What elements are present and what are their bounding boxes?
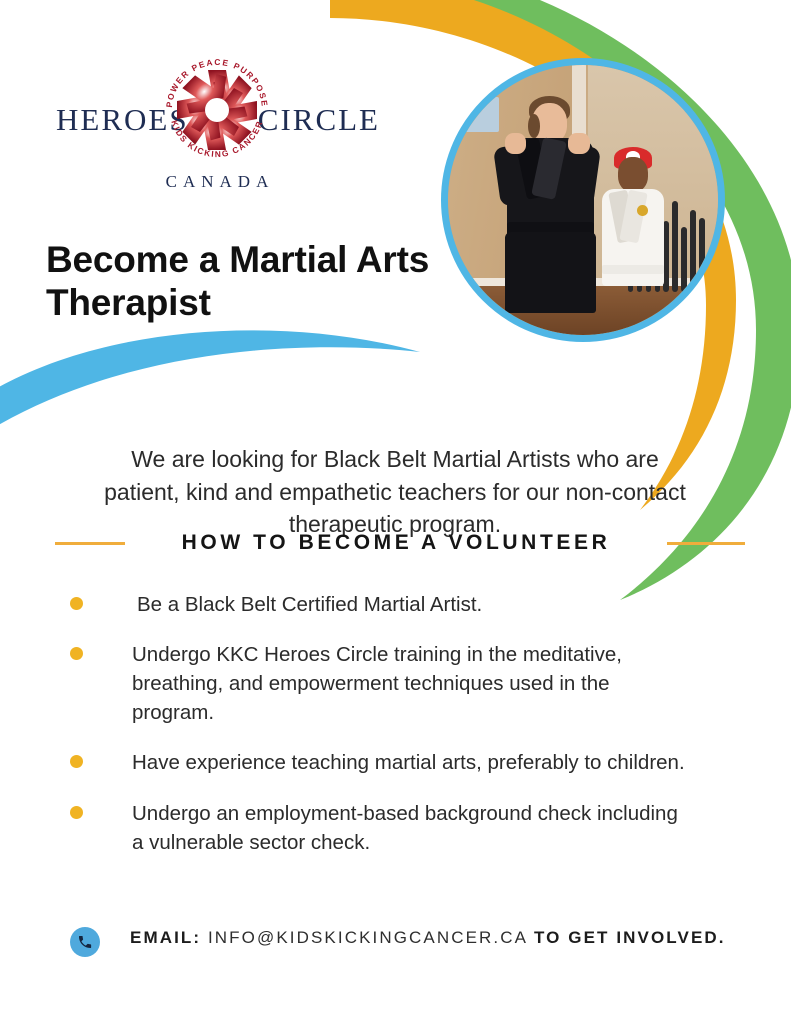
photo-child-head xyxy=(618,157,648,192)
section-header: HOW TO BECOME A VOLUNTEER xyxy=(55,531,745,555)
list-item-text: Be a Black Belt Certified Martial Artist… xyxy=(132,590,690,619)
hero-photo xyxy=(441,58,725,342)
photo-child-belt xyxy=(602,265,664,274)
kicking-star-emblem: POWER PEACE PURPOSE KIDS KICKING CANCER xyxy=(161,54,273,166)
bullet-dot xyxy=(70,806,83,819)
poster-page: HEROES CIRCLE xyxy=(0,0,791,1024)
contact-line: EMAIL: INFO@KIDSKICKINGCANCER.CA TO GET … xyxy=(70,925,730,957)
photo-wall-screen xyxy=(464,97,499,132)
section-rule-right xyxy=(667,542,745,545)
intro-paragraph: We are looking for Black Belt Martial Ar… xyxy=(95,443,695,541)
photo-instructor-fist-right xyxy=(568,133,590,155)
bullet-dot xyxy=(70,647,83,660)
photo-scene xyxy=(448,65,718,335)
contact-text: EMAIL: INFO@KIDSKICKINGCANCER.CA TO GET … xyxy=(130,925,730,951)
requirements-list: Be a Black Belt Certified Martial Artist… xyxy=(70,590,690,878)
photo-instructor-fist-left xyxy=(505,133,527,155)
list-item: Be a Black Belt Certified Martial Artist… xyxy=(70,590,690,619)
section-rule-left xyxy=(55,542,125,545)
brand-word-circle: CIRCLE xyxy=(258,104,380,135)
photo-instructor-hakama xyxy=(505,232,597,313)
section-title: HOW TO BECOME A VOLUNTEER xyxy=(141,531,651,555)
list-item-text: Have experience teaching martial arts, p… xyxy=(132,748,690,777)
phone-icon xyxy=(70,927,100,957)
list-item: Undergo an employment-based background c… xyxy=(70,799,690,857)
contact-label: EMAIL: xyxy=(130,928,201,947)
list-item-text: Undergo KKC Heroes Circle training in th… xyxy=(132,640,690,727)
list-item-text: Undergo an employment-based background c… xyxy=(132,799,690,857)
contact-tail: TO GET INVOLVED. xyxy=(534,928,726,947)
photo-instructor-ponytail xyxy=(528,114,540,138)
list-item: Undergo KKC Heroes Circle training in th… xyxy=(70,640,690,727)
brand-logo: HEROES CIRCLE xyxy=(52,28,382,188)
bullet-dot xyxy=(70,755,83,768)
contact-email[interactable]: INFO@KIDSKICKINGCANCER.CA xyxy=(208,928,527,947)
list-item: Have experience teaching martial arts, p… xyxy=(70,748,690,777)
photo-child-gi-badge xyxy=(637,205,648,216)
brand-country: CANADA xyxy=(52,172,382,192)
page-title: Become a Martial Arts Therapist xyxy=(46,239,466,325)
blue-swoosh xyxy=(0,330,420,430)
bullet-dot xyxy=(70,597,83,610)
